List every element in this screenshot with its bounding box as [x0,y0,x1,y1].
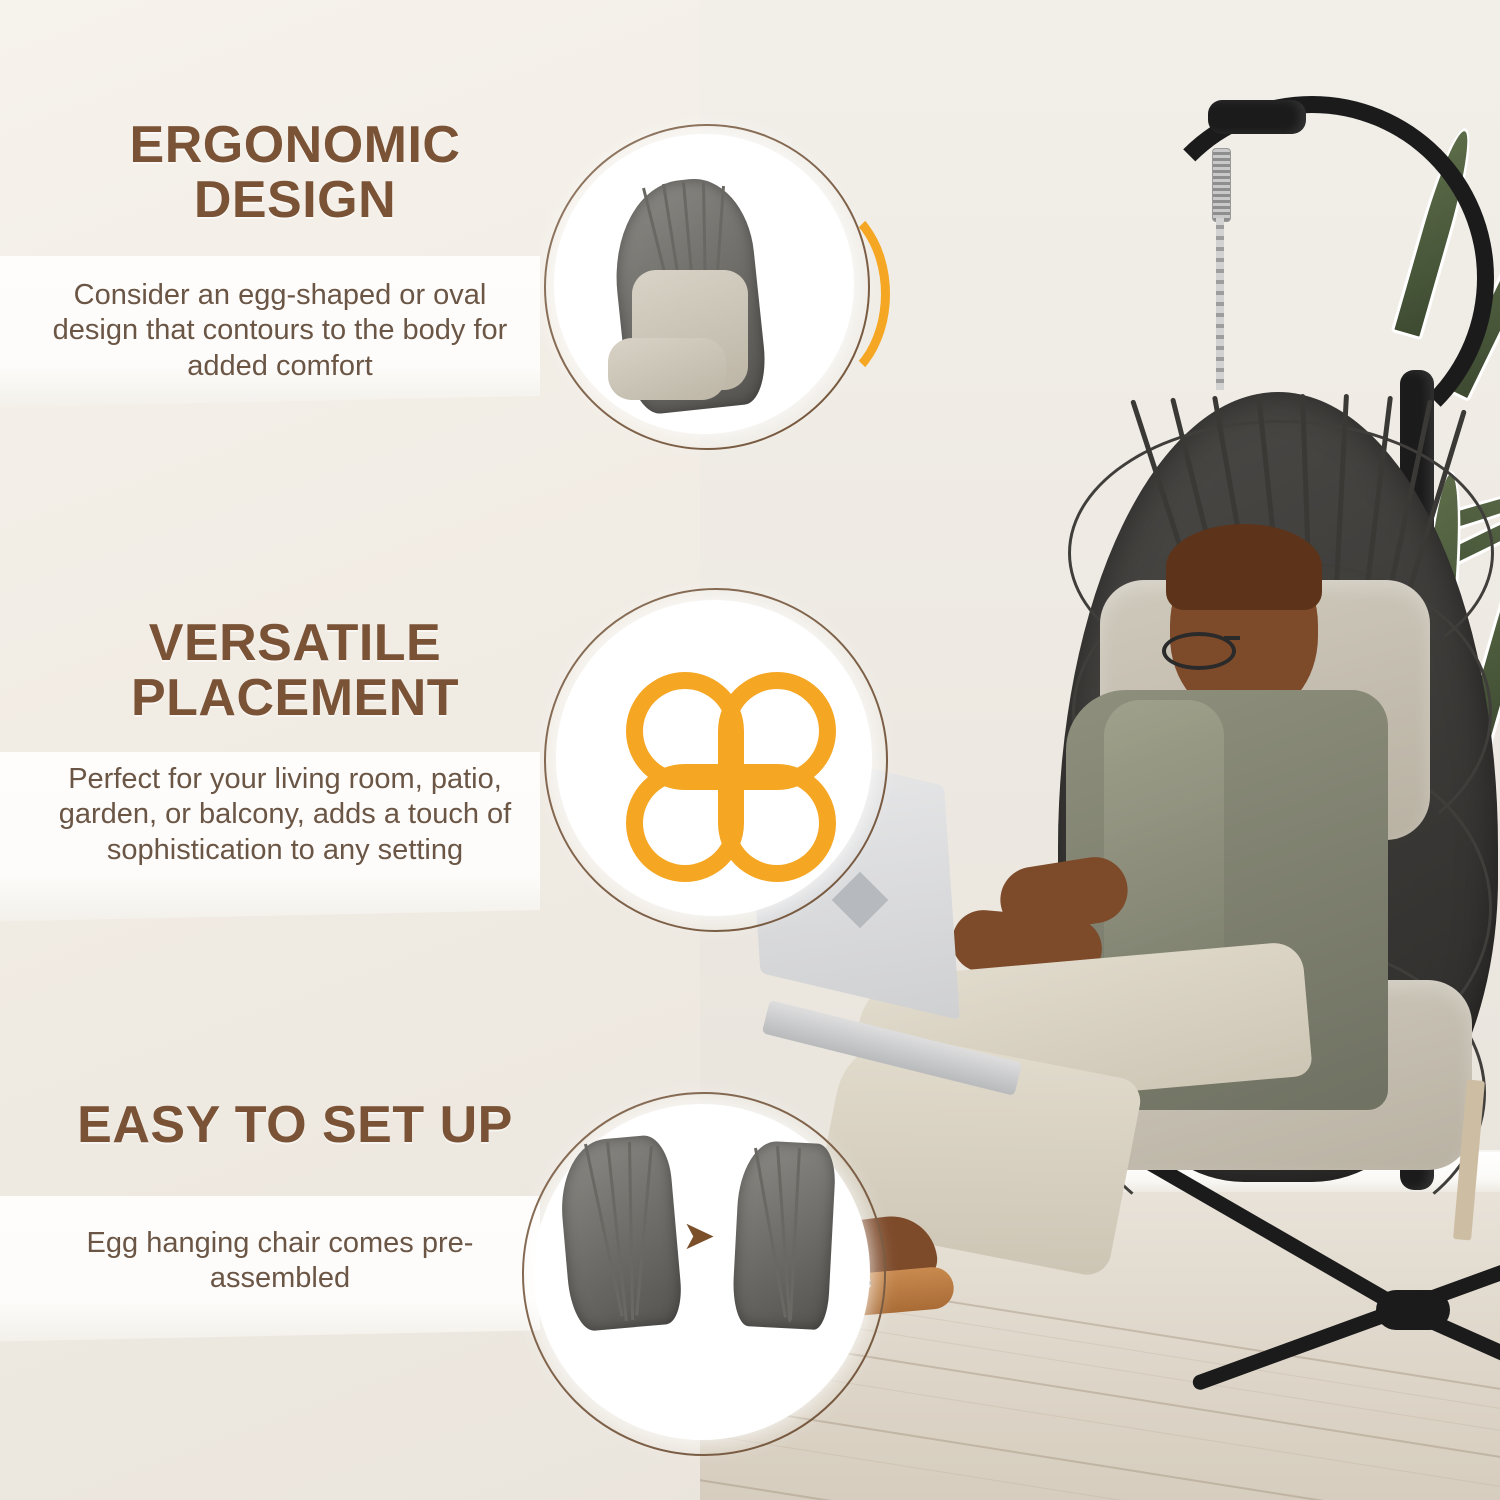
four-petal-flower-icon [626,672,802,848]
feature-1-heading-line2: DESIGN [60,173,530,228]
feature-2-heading: VERSATILE PLACEMENT [60,616,530,725]
arrow-right-icon: ➤ [682,1216,716,1256]
feature-2-body: Perfect for your living room, patio, gar… [40,762,530,868]
egg-chair-illustration-icon [590,160,840,410]
feature-1-heading-line1: ERGONOMIC [60,118,530,173]
feature-1-body: Consider an egg-shaped or oval design th… [40,278,520,384]
feature-2-heading-line1: VERSATILE [60,616,530,671]
feature-3-heading-line1: EASY TO SET UP [50,1098,540,1153]
feature-2-heading-line2: PLACEMENT [60,671,530,726]
feature-1-heading: ERGONOMIC DESIGN [60,118,530,227]
feature-3-body: Egg hanging chair comes pre-assembled [40,1226,520,1297]
feature-3-heading: EASY TO SET UP [50,1098,540,1153]
folded-chair-pair-icon: ➤ [556,1126,856,1406]
infographic-root: ERGONOMIC DESIGN Consider an egg-shaped … [0,0,1500,1500]
